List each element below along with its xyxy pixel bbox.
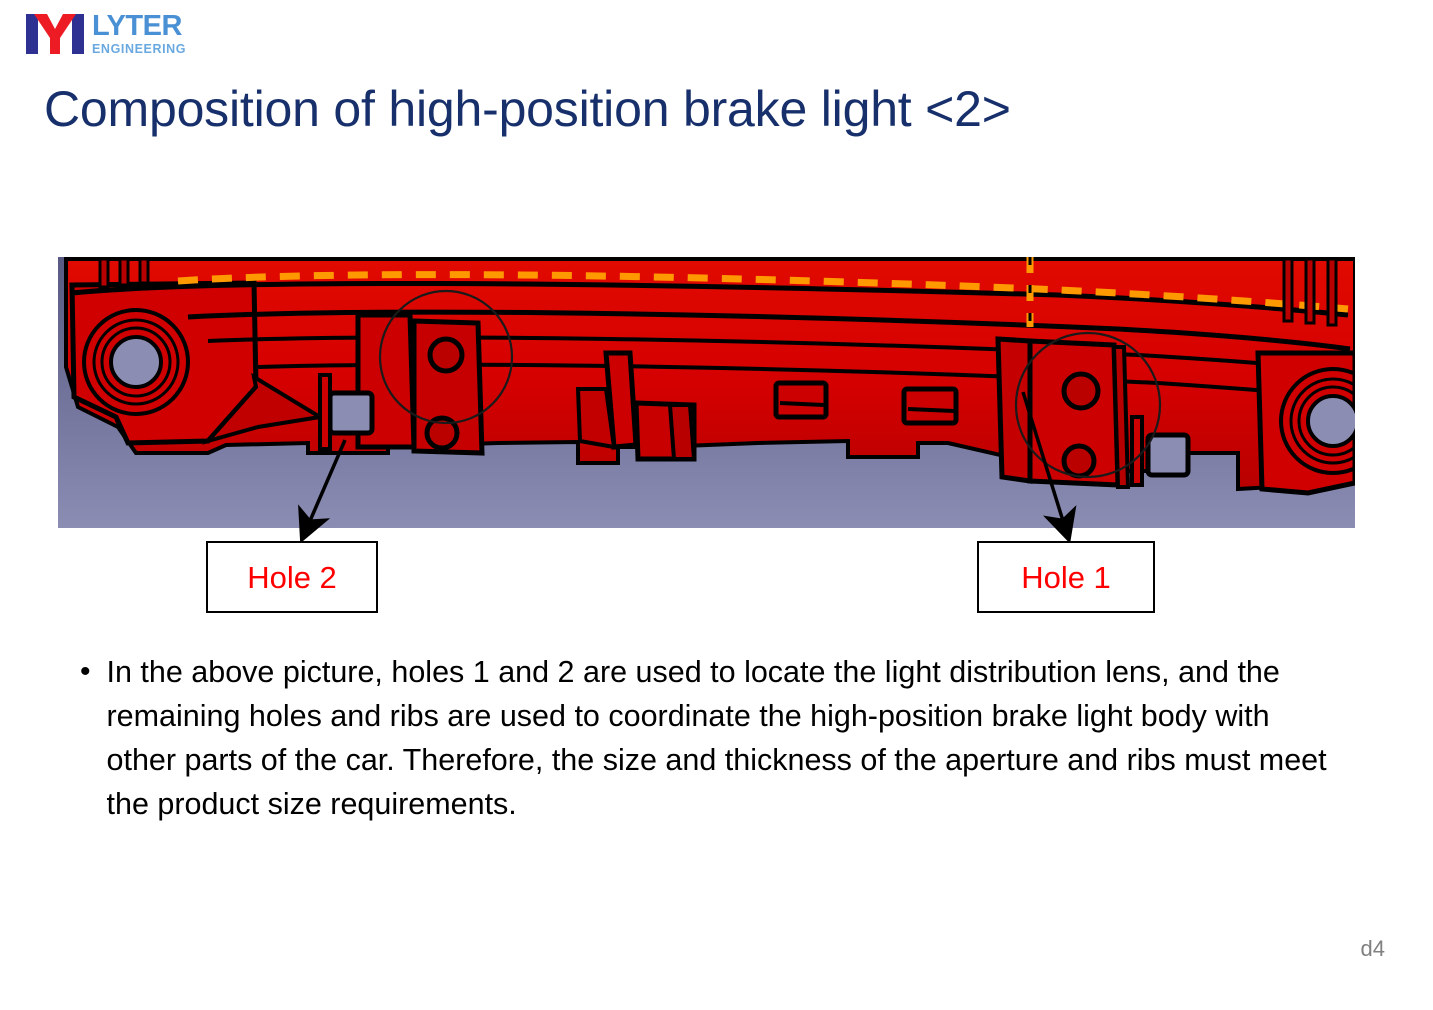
cad-figure <box>58 257 1355 528</box>
body-paragraph: In the above picture, holes 1 and 2 are … <box>107 650 1347 826</box>
hole-1-upper <box>1064 374 1098 408</box>
hole-1-lower <box>1064 446 1094 476</box>
company-logo: LYTER ENGINEERING <box>24 8 204 58</box>
left-fins <box>100 259 148 287</box>
hole-1-window <box>1148 435 1188 475</box>
callout-label-hole-1: Hole 1 <box>1021 562 1111 593</box>
lyter-y-mark-icon <box>24 10 86 56</box>
hole-2-window <box>330 393 372 433</box>
logo-wordmark: LYTER ENGINEERING <box>92 10 186 56</box>
bullet-glyph: • <box>80 650 91 694</box>
right-fins <box>1284 259 1336 325</box>
logo-secondary-text: ENGINEERING <box>92 43 186 56</box>
slide-title: Composition of high-position brake light… <box>44 80 1364 138</box>
body-bullet-list: • In the above picture, holes 1 and 2 ar… <box>80 650 1360 826</box>
page-marker: d4 <box>1361 936 1385 962</box>
logo-primary-text: LYTER <box>92 12 186 41</box>
callout-label-hole-2: Hole 2 <box>247 562 337 593</box>
cad-part-drawing <box>58 257 1355 528</box>
callout-box-hole-1[interactable]: Hole 1 <box>977 541 1155 613</box>
callout-box-hole-2[interactable]: Hole 2 <box>206 541 378 613</box>
hole-2-upper <box>430 339 462 371</box>
